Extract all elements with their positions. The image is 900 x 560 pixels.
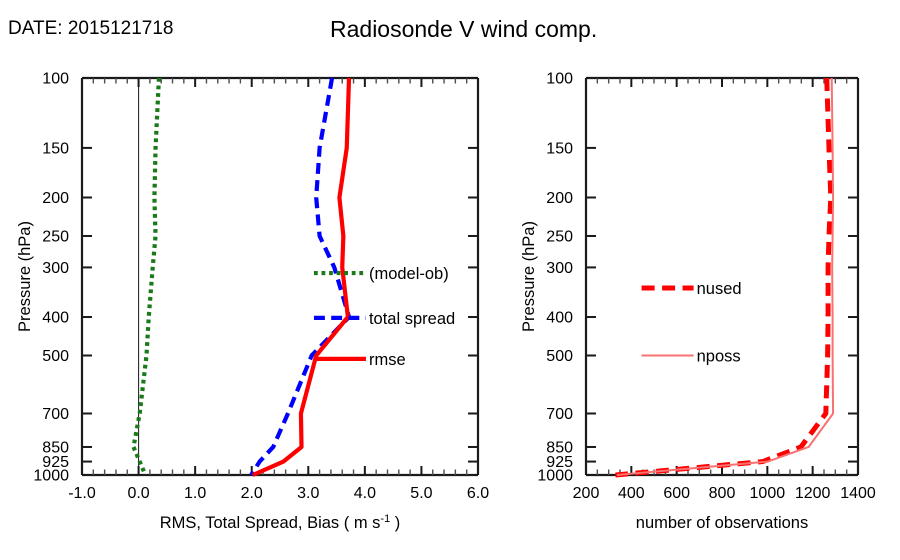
plot-surface: -1.00.01.02.03.04.05.06.0100150200250300…: [0, 0, 900, 560]
x-axis-title: number of observations: [636, 514, 808, 532]
page-title: Radiosonde V wind comp.: [330, 16, 597, 43]
legend-label-bias: (model-ob): [369, 265, 449, 283]
y-tick-label: 150: [546, 140, 573, 157]
y-tick-label: 400: [42, 310, 69, 327]
y-tick-label: 250: [42, 228, 69, 245]
x-tick-label: 200: [573, 485, 600, 502]
x-axis-title: RMS, Total Spread, Bias ( m s-1 ): [160, 513, 401, 532]
right-panel: 2004006008001000120014001001502002503004…: [520, 71, 876, 533]
chart-page: DATE: 2015121718 Radiosonde V wind comp.…: [0, 0, 900, 560]
x-axis-title-tail: ): [390, 514, 400, 532]
x-tick-label: 1000: [750, 485, 786, 502]
legend-label-nposs: nposs: [697, 347, 741, 365]
axis-frame: [586, 78, 858, 475]
x-tick-label: 800: [709, 485, 736, 502]
x-tick-label: 600: [663, 485, 690, 502]
y-tick-label: 100: [42, 71, 69, 88]
x-tick-label: 1200: [795, 485, 831, 502]
series-rmse: [253, 78, 349, 475]
y-tick-label: 500: [42, 348, 69, 365]
y-axis-title: Pressure (hPa): [520, 221, 538, 332]
y-tick-label: 100: [546, 71, 573, 88]
x-tick-label: 3.0: [297, 485, 319, 502]
y-tick-label: 700: [546, 406, 573, 423]
series-nused: [615, 78, 830, 475]
x-axis-title-superscript: -1: [380, 513, 390, 525]
x-tick-label: 2.0: [241, 485, 263, 502]
series-nposs: [617, 78, 833, 475]
legend-label-nused: nused: [697, 280, 742, 298]
y-tick-label: 200: [546, 190, 573, 207]
y-tick-label: 1000: [537, 468, 573, 485]
y-tick-label: 400: [546, 310, 573, 327]
x-tick-label: 400: [618, 485, 645, 502]
y-tick-label: 300: [546, 260, 573, 277]
date-label: DATE: 2015121718: [8, 18, 174, 40]
y-tick-label: 150: [42, 140, 69, 157]
legend-label-rmse: rmse: [369, 351, 406, 369]
x-tick-label: 4.0: [354, 485, 376, 502]
y-tick-label: 500: [546, 348, 573, 365]
y-tick-label: 1000: [33, 468, 69, 485]
x-tick-label: -1.0: [68, 485, 96, 502]
y-tick-label: 200: [42, 190, 69, 207]
x-tick-label: 1.0: [184, 485, 206, 502]
legend-label-total_spread: total spread: [369, 310, 455, 328]
x-tick-label: 1400: [840, 485, 876, 502]
y-tick-label: 250: [546, 228, 573, 245]
y-tick-label: 700: [42, 406, 69, 423]
left-panel: -1.00.01.02.03.04.05.06.0100150200250300…: [16, 71, 489, 533]
y-axis-title: Pressure (hPa): [16, 221, 34, 332]
series-bias: [133, 78, 158, 475]
x-tick-label: 6.0: [467, 485, 489, 502]
x-tick-label: 0.0: [127, 485, 149, 502]
y-tick-label: 300: [42, 260, 69, 277]
x-tick-label: 5.0: [410, 485, 432, 502]
